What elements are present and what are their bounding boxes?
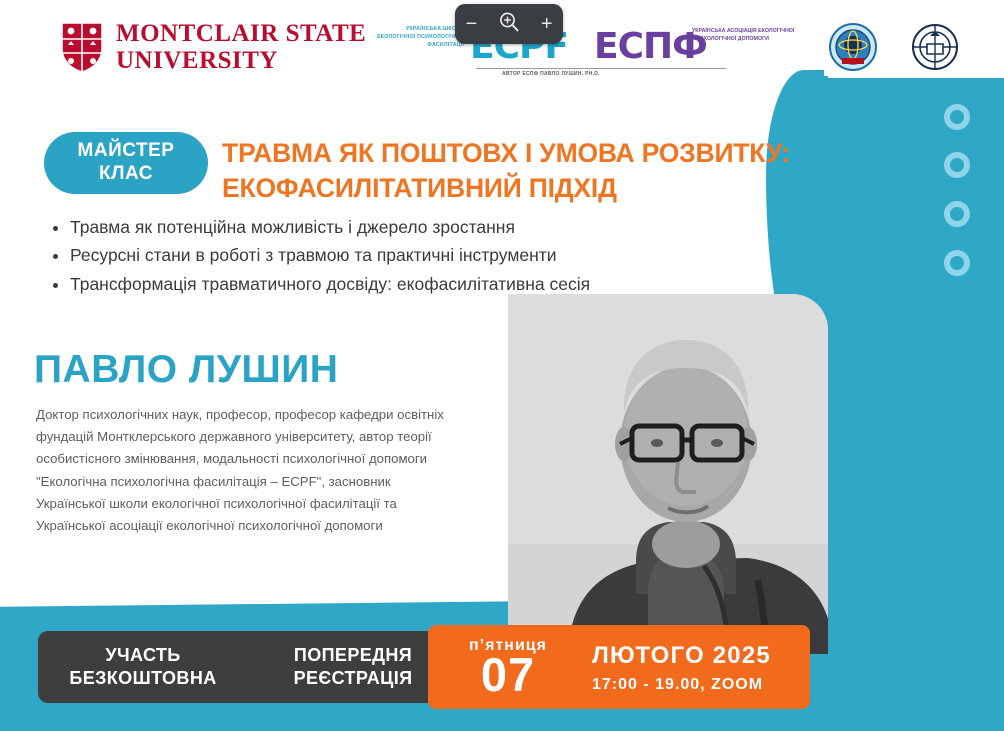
event-date-panel: пʼятниця 07 ЛЮТОГО 2025 17:00 - 19.00, Z… — [428, 625, 810, 709]
list-item: Травма як потенційна можливість і джерел… — [70, 213, 824, 241]
title-line-1: ТРАВМА ЯК ПОШТОВХ І УМОВА РОЗВИТКУ: — [222, 136, 842, 171]
ecpf-logo-group: УКРАЇНСЬКА ШКОЛА ЕКОЛОГІЧНОЇ ПСИХОЛОГІЧН… — [372, 22, 772, 84]
page-title: ТРАВМА ЯК ПОШТОВХ І УМОВА РОЗВИТКУ: ЕКОФ… — [222, 136, 842, 206]
magnifier-plus-icon[interactable] — [498, 11, 520, 37]
msu-shield-icon — [60, 21, 104, 73]
montclair-line-1: MONTCLAIR STATE — [116, 20, 366, 47]
date-day-block: пʼятниця 07 — [428, 637, 588, 698]
participation-line-1: УЧАСТЬ — [38, 644, 248, 667]
date-day-number: 07 — [428, 653, 588, 698]
title-line-2: ЕКОФАСИЛІТАТИВНИЙ ПІДХІД — [222, 171, 842, 206]
badge-line-1: МАЙСТЕР — [78, 140, 175, 163]
badge-line-2: КЛАС — [99, 163, 153, 186]
date-time-platform: 17:00 - 19.00, ZOOM — [592, 676, 771, 694]
participation-line-2: БЕЗКОШТОВНА — [38, 667, 248, 690]
footer-info-bar: УЧАСТЬ БЕЗКОШТОВНА ПОПЕРЕДНЯ РЕЄСТРАЦІЯ — [38, 631, 458, 703]
zoom-in-button[interactable]: + — [541, 14, 553, 34]
decorative-ring-1 — [944, 104, 970, 130]
date-details-block: ЛЮТОГО 2025 17:00 - 19.00, ZOOM — [588, 640, 771, 693]
decorative-ring-4 — [944, 250, 970, 276]
participation-info: УЧАСТЬ БЕЗКОШТОВНА — [38, 644, 248, 691]
registration-line-1: ПОПЕРЕДНЯ — [248, 644, 458, 667]
emblem-logo-2 — [906, 18, 964, 76]
ecpf-divider — [476, 68, 726, 69]
decorative-ring-2 — [944, 152, 970, 178]
montclair-logo: MONTCLAIR STATE UNIVERSITY — [60, 20, 366, 74]
speaker-name: ПАВЛО ЛУШИН — [34, 348, 338, 392]
poster-canvas: MONTCLAIR STATE UNIVERSITY УКРАЇНСЬКА ШК… — [0, 0, 1004, 731]
montclair-wordmark: MONTCLAIR STATE UNIVERSITY — [116, 20, 366, 74]
zoom-out-button[interactable]: − — [465, 14, 477, 34]
master-class-badge: МАЙСТЕР КЛАС — [44, 132, 208, 194]
ecpf-left-caption: УКРАЇНСЬКА ШКОЛА ЕКОЛОГІЧНОЇ ПСИХОЛОГІЧН… — [372, 26, 464, 50]
decorative-ring-3 — [944, 201, 970, 227]
registration-info: ПОПЕРЕДНЯ РЕЄСТРАЦІЯ — [248, 644, 458, 691]
zoom-control-toolbar[interactable]: − + — [455, 4, 563, 44]
emblem-logo-1 — [824, 18, 882, 76]
topic-list: Травма як потенційна можливість і джерел… — [44, 213, 824, 298]
montclair-line-2: UNIVERSITY — [116, 47, 366, 74]
speaker-bio: Доктор психологічних наук, професор, про… — [36, 404, 456, 537]
registration-line-2: РЕЄСТРАЦІЯ — [248, 667, 458, 690]
ecpf-footnote: АВТОР ЕСПФ ПАВЛО ЛУШИН, PH.D. — [502, 71, 600, 77]
list-item: Ресурсні стани в роботі з травмою та пра… — [70, 241, 824, 269]
date-month-year: ЛЮТОГО 2025 — [592, 640, 771, 671]
ecpt-wordmark: ЕСПФ — [594, 26, 707, 67]
ecpt-right-caption: УКРАЇНСЬКА АСОЦІАЦІЯ ЕКОЛОГІЧНОЇ ПСИХОЛО… — [692, 28, 802, 44]
speaker-photo — [508, 294, 828, 654]
